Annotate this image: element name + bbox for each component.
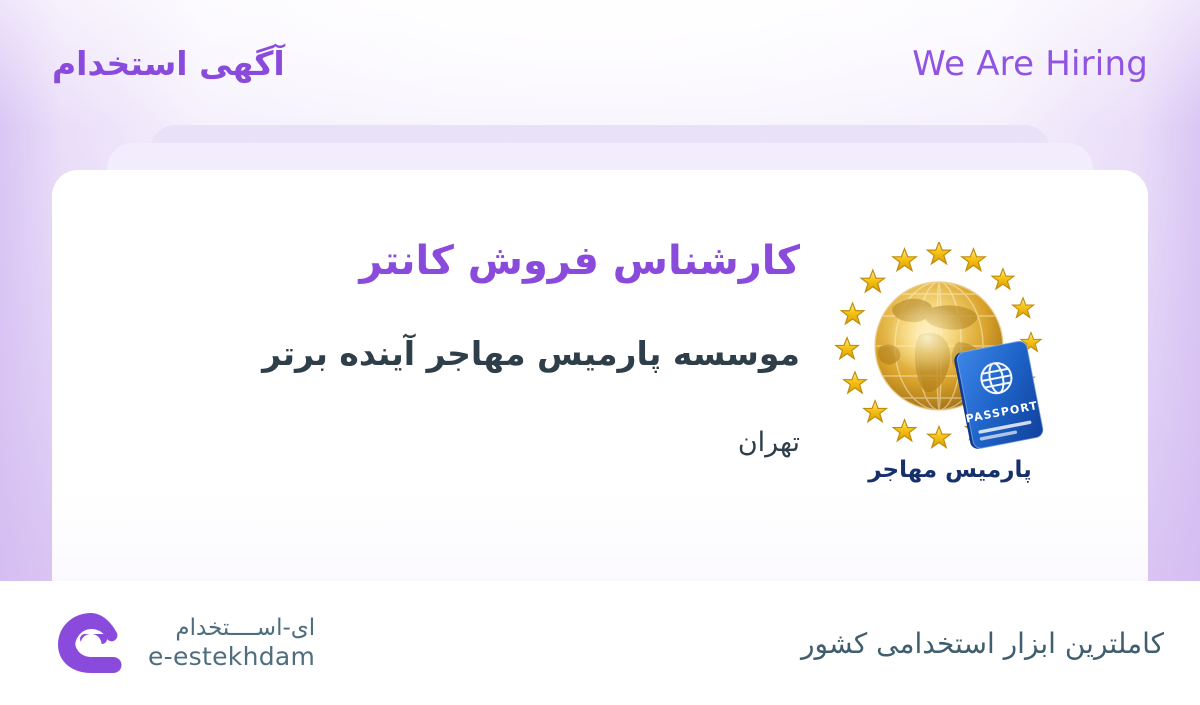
job-info: کارشناس فروش کانتر موسسه پارمیس مهاجر آی… [92, 218, 800, 460]
site-brand-text: ای-اســــتخدام e-estekhdam [148, 615, 315, 672]
job-city: تهران [92, 425, 800, 460]
hero-heading-en: We Are Hiring [912, 42, 1148, 86]
company-logo-wordmark: پارمیس مهاجر [835, 459, 1065, 482]
job-card-body: کارشناس فروش کانتر موسسه پارمیس مهاجر آی… [52, 170, 1148, 582]
brand-name-fa: ای-اســــتخدام [148, 615, 315, 642]
footer-tagline: کاملترین ابزار استخدامی کشور [801, 627, 1164, 660]
company-logo-container: PASSPORT پارمیس مهاجر [800, 218, 1100, 482]
job-title: کارشناس فروش کانتر [92, 234, 800, 288]
passport-icon: PASSPORT [953, 340, 1044, 450]
job-card[interactable]: کارشناس فروش کانتر موسسه پارمیس مهاجر آی… [52, 170, 1148, 582]
card-stack: کارشناس فروش کانتر موسسه پارمیس مهاجر آی… [0, 0, 1200, 581]
footer: ای-اســــتخدام e-estekhdam کاملترین ابزا… [0, 581, 1200, 705]
e-estekhdam-logo-icon [52, 607, 130, 679]
job-ad-poster: آگهی استخدام We Are Hiring کارشناس فروش … [0, 0, 1200, 705]
site-brand[interactable]: ای-اســــتخدام e-estekhdam [52, 607, 315, 679]
globe-passport-logo-icon: PASSPORT [835, 242, 1065, 482]
brand-name-en: e-estekhdam [148, 642, 315, 672]
company-logo: PASSPORT پارمیس مهاجر [835, 242, 1065, 482]
hero-header: آگهی استخدام We Are Hiring [52, 42, 1148, 86]
company-name: موسسه پارمیس مهاجر آینده برتر [92, 332, 800, 377]
hero-heading-fa: آگهی استخدام [52, 42, 285, 86]
